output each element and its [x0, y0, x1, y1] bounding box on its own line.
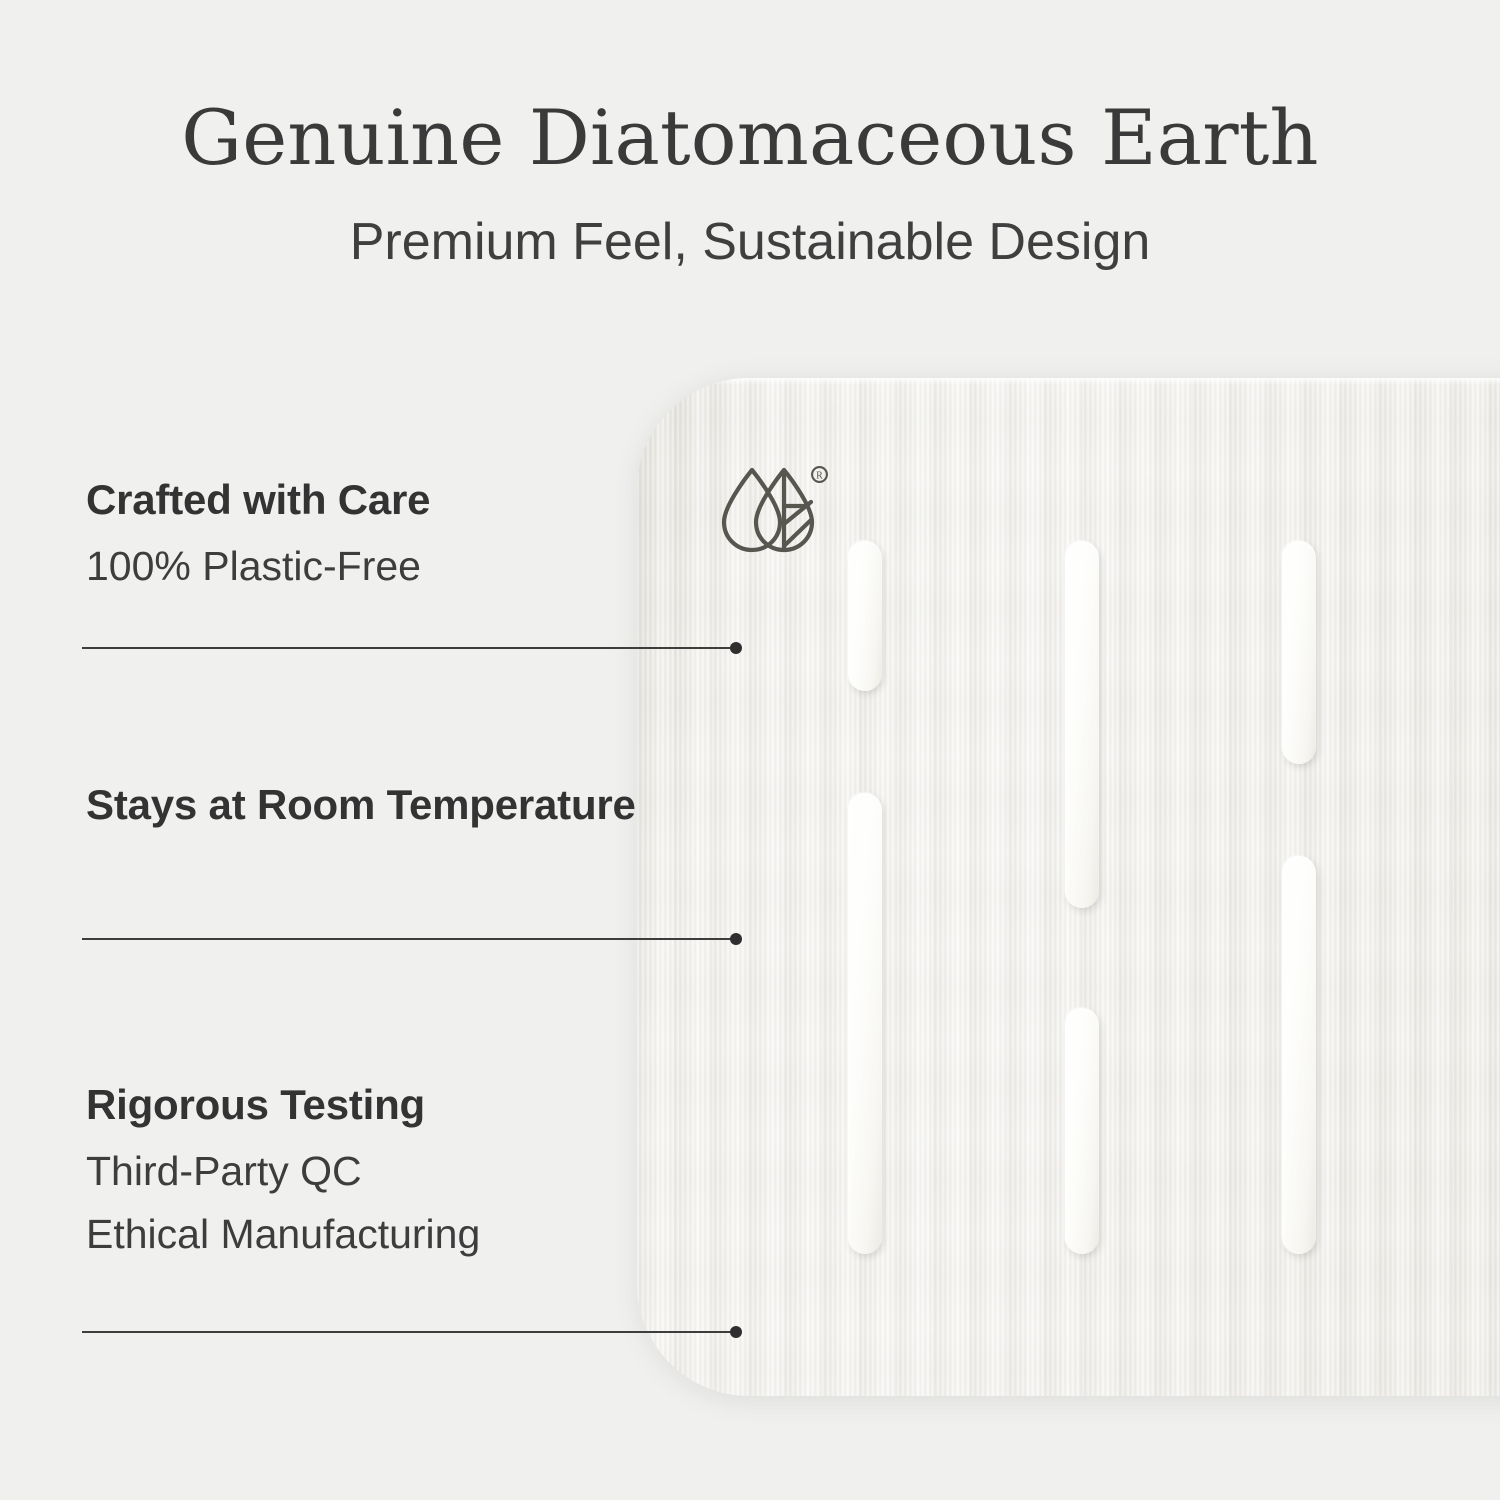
feature-connector-line	[82, 642, 742, 654]
product-infographic: Genuine Diatomaceous Earth Premium Feel,…	[0, 0, 1500, 1500]
water-drop-leaf-logo: R	[718, 462, 828, 566]
header: Genuine Diatomaceous Earth Premium Feel,…	[0, 0, 1500, 268]
connector-endpoint-dot	[730, 1326, 742, 1338]
mat-groove	[1065, 541, 1099, 908]
feature-subtext: Third-Party QC	[86, 1130, 726, 1199]
feature-heading: Crafted with Care	[86, 475, 726, 525]
feature-stays-at-room-temperature: Stays at Room Temperature	[86, 780, 726, 830]
connector-endpoint-dot	[730, 642, 742, 654]
mat-top-edge-highlight	[637, 378, 1500, 385]
connector-stroke	[82, 1331, 734, 1333]
svg-text:R: R	[816, 470, 823, 481]
mat-groove	[1282, 541, 1316, 764]
feature-connector-line	[82, 933, 742, 945]
feature-crafted-with-care: Crafted with Care100% Plastic-Free	[86, 475, 726, 594]
page-subtitle: Premium Feel, Sustainable Design	[0, 176, 1500, 268]
mat-groove	[1282, 856, 1316, 1254]
mat-groove	[848, 541, 882, 691]
feature-heading: Stays at Room Temperature	[86, 780, 726, 830]
connector-endpoint-dot	[730, 933, 742, 945]
feature-heading: Rigorous Testing	[86, 1080, 726, 1130]
mat-groove	[848, 793, 882, 1254]
page-title: Genuine Diatomaceous Earth	[0, 0, 1500, 176]
mat-groove	[1065, 1008, 1099, 1254]
feature-subtext: 100% Plastic-Free	[86, 525, 726, 594]
connector-stroke	[82, 938, 734, 940]
feature-subtext: Ethical Manufacturing	[86, 1199, 726, 1262]
feature-rigorous-testing: Rigorous TestingThird-Party QCEthical Ma…	[86, 1080, 726, 1263]
connector-stroke	[82, 647, 734, 649]
feature-connector-line	[82, 1326, 742, 1338]
